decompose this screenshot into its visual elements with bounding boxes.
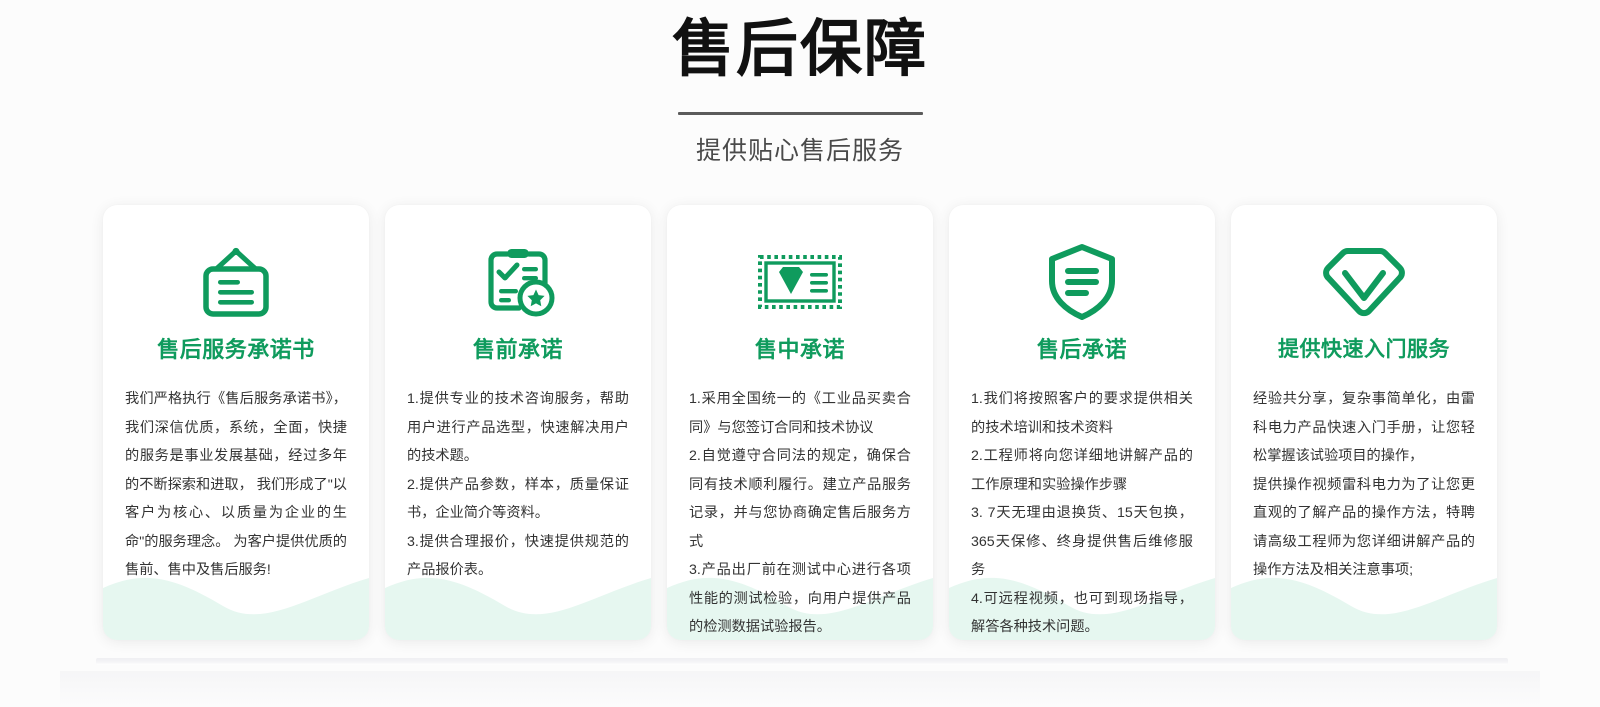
card-body: 经验共分享，复杂事简单化，由雷科电力产品快速入门手册，让您轻松掌握该试验项目的操… xyxy=(1253,385,1475,585)
service-card[interactable]: 售后服务承诺书 我们严格执行《售后服务承诺书》，我们深信优质，系统，全面，快捷的… xyxy=(103,205,369,640)
service-card[interactable]: 售后承诺 1.我们将按照客户的要求提供相关的技术培训和技术资料2.工程师将向您详… xyxy=(949,205,1215,640)
diamond-check-icon xyxy=(1253,239,1475,325)
page-subtitle: 提供贴心售后服务 xyxy=(0,133,1600,169)
card-title: 售后服务承诺书 xyxy=(125,335,347,365)
hanging-sign-icon xyxy=(125,239,347,325)
service-card[interactable]: 提供快速入门服务 经验共分享，复杂事简单化，由雷科电力产品快速入门手册，让您轻松… xyxy=(1231,205,1497,640)
stamp-diamond-icon xyxy=(689,239,911,325)
card-body: 我们严格执行《售后服务承诺书》，我们深信优质，系统，全面，快捷的服务是事业发展基… xyxy=(125,385,347,585)
card-title: 售后承诺 xyxy=(971,335,1193,365)
card-body: 1.提供专业的技术咨询服务，帮助用户进行产品选型，快速解决用户的技术题。2.提供… xyxy=(407,385,629,585)
clipboard-check-star-icon xyxy=(407,239,629,325)
service-card[interactable]: 售中承诺 1.采用全国统一的《工业品买卖合同》与您签订合同和技术协议2.自觉遵守… xyxy=(667,205,933,640)
page-header: 售后保障 提供贴心售后服务 xyxy=(0,0,1600,169)
service-cards-row: 售后服务承诺书 我们严格执行《售后服务承诺书》，我们深信优质，系统，全面，快捷的… xyxy=(103,205,1497,640)
card-body: 1.采用全国统一的《工业品买卖合同》与您签订合同和技术协议2.自觉遵守合同法的规… xyxy=(689,385,911,640)
page-title: 售后保障 xyxy=(0,10,1600,90)
card-title: 售前承诺 xyxy=(407,335,629,365)
card-title: 提供快速入门服务 xyxy=(1253,335,1475,365)
card-title: 售中承诺 xyxy=(689,335,911,365)
card-body: 1.我们将按照客户的要求提供相关的技术培训和技术资料2.工程师将向您详细地讲解产… xyxy=(971,385,1193,640)
bottom-glow xyxy=(60,671,1540,707)
bottom-separator-bar xyxy=(96,658,1508,665)
service-card[interactable]: 售前承诺 1.提供专业的技术咨询服务，帮助用户进行产品选型，快速解决用户的技术题… xyxy=(385,205,651,640)
after-sales-guarantee-page: 售后保障 提供贴心售后服务 售后服务承诺书 我们严格执行《售后服务承诺书》，我们… xyxy=(0,0,1600,707)
title-divider xyxy=(678,112,923,115)
shield-lines-icon xyxy=(971,239,1193,325)
